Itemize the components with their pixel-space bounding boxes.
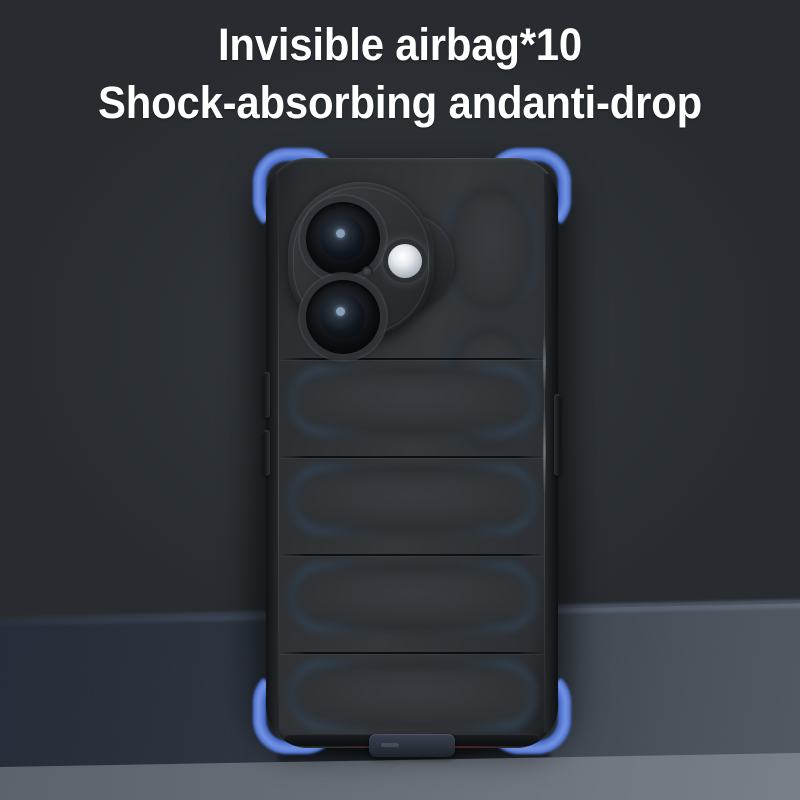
panel-divider-4 xyxy=(280,652,544,654)
camera-flash xyxy=(388,244,422,278)
airbag-pill-1 xyxy=(444,186,538,312)
camera-microphone xyxy=(362,266,373,277)
right-rail-cutout-upper xyxy=(543,334,546,392)
lens-glass xyxy=(321,295,365,339)
volume-up-button xyxy=(263,372,270,418)
case-shell xyxy=(266,158,558,748)
left-rail-seam xyxy=(278,184,279,722)
panel-divider-3 xyxy=(280,554,544,556)
volume-down-button xyxy=(263,430,270,476)
panel-divider-1 xyxy=(280,358,544,360)
right-rail-cutout-lower xyxy=(543,408,546,494)
airbag-pill-6 xyxy=(288,660,538,730)
bottom-tab-tick xyxy=(381,743,399,747)
airbag-pill-3 xyxy=(288,366,538,436)
airbag-pill-5 xyxy=(288,562,538,632)
airbag-pill-4 xyxy=(288,464,538,534)
camera-lens-bottom xyxy=(306,280,380,354)
product-image-canvas: Invisible airbag*10 Shock-absorbing anda… xyxy=(0,0,800,800)
headline: Invisible airbag*10 Shock-absorbing anda… xyxy=(0,18,800,130)
phone-case xyxy=(266,158,558,748)
panel-divider-2 xyxy=(280,456,544,458)
headline-line-2: Shock-absorbing andanti-drop xyxy=(28,76,772,130)
bottom-tab-badge xyxy=(369,734,455,757)
lens-glass xyxy=(321,217,365,261)
camera-lens-top xyxy=(306,202,380,276)
headline-line-1: Invisible airbag*10 xyxy=(28,18,772,72)
power-button xyxy=(554,394,561,476)
